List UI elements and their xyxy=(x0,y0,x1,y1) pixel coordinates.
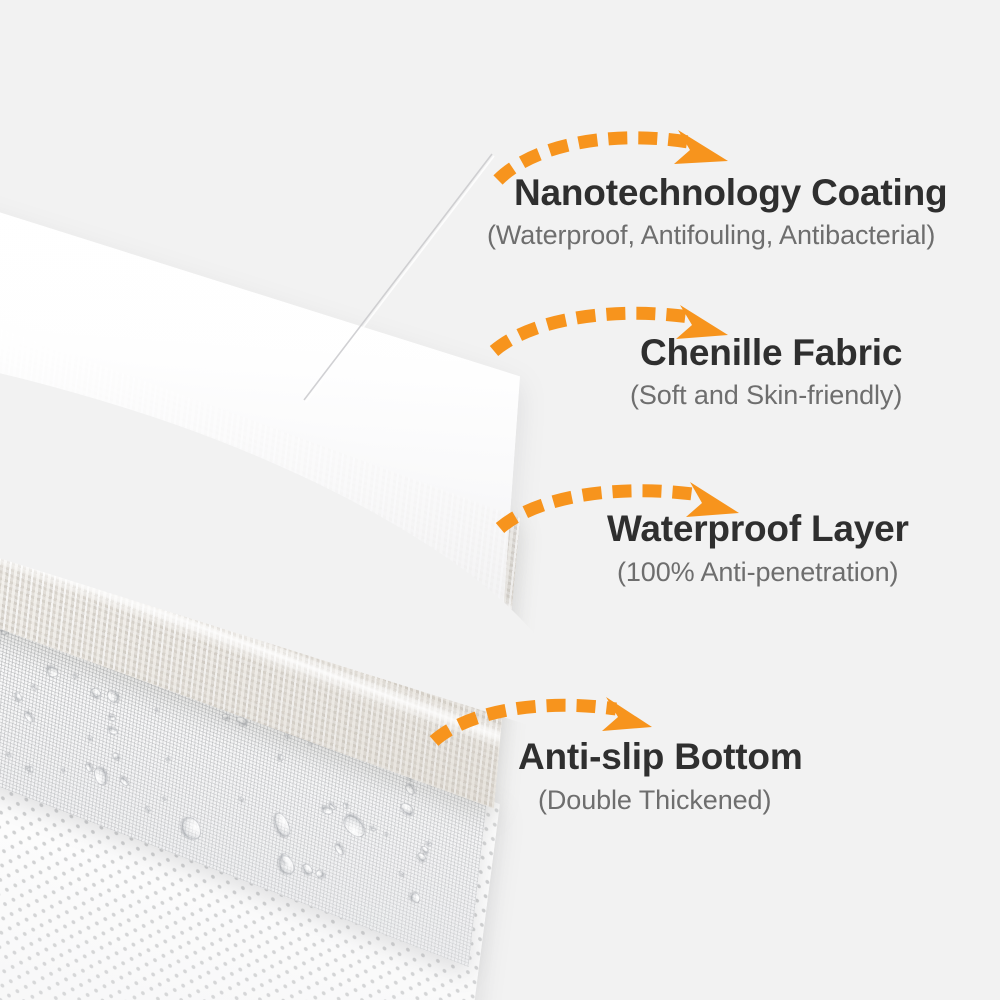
water-droplet xyxy=(22,710,35,724)
water-droplet xyxy=(6,752,11,757)
callout-title: Nanotechnology Coating xyxy=(514,172,947,214)
water-droplet xyxy=(25,766,31,771)
water-droplet xyxy=(222,713,229,720)
water-droplet xyxy=(108,726,118,736)
water-droplet xyxy=(399,801,415,818)
water-droplet xyxy=(301,862,315,875)
water-droplet xyxy=(271,812,293,837)
water-droplet xyxy=(162,798,167,801)
water-droplet xyxy=(370,827,376,832)
water-droplet xyxy=(404,782,418,795)
water-droplet xyxy=(106,687,121,704)
water-droplet xyxy=(112,753,121,760)
water-droplet xyxy=(84,762,93,772)
water-droplet xyxy=(94,766,108,787)
water-droplet xyxy=(109,715,117,721)
callout-subtitle: (Double Thickened) xyxy=(538,785,771,816)
water-droplet xyxy=(426,841,433,847)
water-droplet xyxy=(343,803,348,810)
water-droplet xyxy=(165,756,171,762)
water-droplet xyxy=(339,811,369,842)
water-droplet xyxy=(332,842,345,856)
water-droplet xyxy=(46,665,59,678)
water-droplet xyxy=(118,775,131,788)
callout-subtitle: (Soft and Skin-friendly) xyxy=(630,380,902,411)
water-droplet xyxy=(87,734,93,741)
water-droplet xyxy=(278,853,295,876)
water-droplet xyxy=(386,832,389,836)
water-droplet xyxy=(238,796,245,803)
water-droplet xyxy=(144,805,151,812)
callout-subtitle: (Waterproof, Antifouling, Antibacterial) xyxy=(487,220,935,251)
water-droplet xyxy=(90,687,104,700)
water-droplet xyxy=(314,868,326,879)
water-droplet xyxy=(180,814,203,844)
water-droplet xyxy=(72,673,76,678)
water-droplet xyxy=(278,753,284,761)
callout-title: Anti-slip Bottom xyxy=(518,736,803,778)
water-droplet xyxy=(13,692,22,701)
water-droplet xyxy=(155,707,160,712)
water-droplet xyxy=(408,890,422,906)
callout-title: Chenille Fabric xyxy=(640,332,902,374)
callout-subtitle: (100% Anti-penetration) xyxy=(617,557,898,588)
water-droplet xyxy=(61,769,65,773)
diagram-canvas: Nanotechnology Coating (Waterproof, Anti… xyxy=(0,0,1000,1000)
water-droplet xyxy=(398,869,405,876)
water-droplet xyxy=(31,685,38,692)
callout-title: Waterproof Layer xyxy=(607,508,909,550)
